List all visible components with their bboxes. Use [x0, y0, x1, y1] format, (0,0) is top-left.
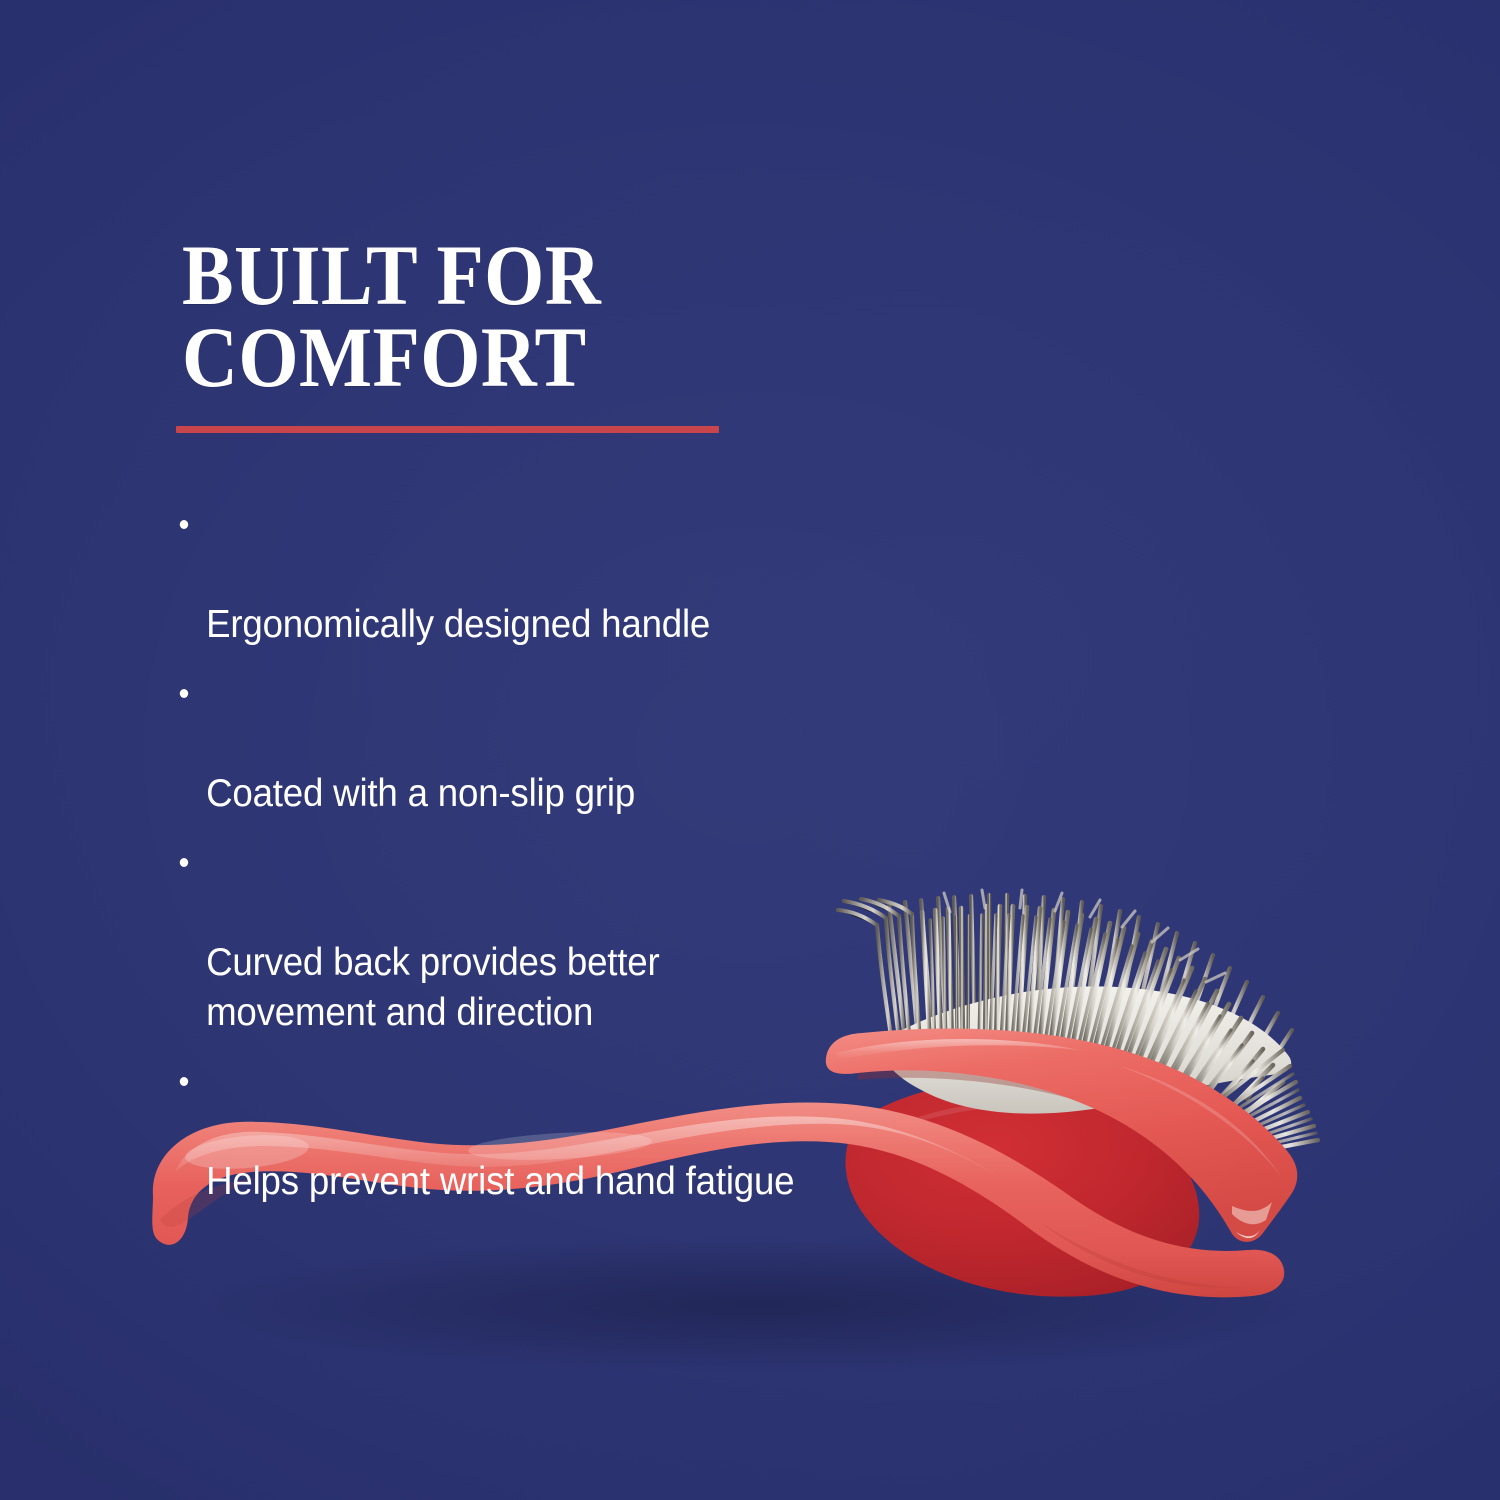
list-item-label: Ergonomically designed handle — [206, 603, 710, 646]
bullet-dot-icon — [180, 858, 188, 867]
list-item: Helps prevent wrist and hand fatigue — [176, 1057, 1041, 1207]
bullet-dot-icon — [180, 689, 188, 698]
bullet-dot-icon — [180, 1077, 188, 1086]
bullet-dot-icon — [180, 520, 188, 529]
marketing-infographic: BUILT FOR COMFORT Ergonomically designed… — [0, 0, 1500, 1500]
list-item-label: Helps prevent wrist and hand fatigue — [206, 1160, 794, 1203]
list-item: Coated with a non-slip grip — [176, 669, 1041, 819]
title-divider-rule — [176, 426, 719, 433]
feature-list: Ergonomically designed handle Coated wit… — [176, 500, 1096, 1226]
page-title: BUILT FOR COMFORT — [182, 234, 992, 398]
list-item: Ergonomically designed handle — [176, 500, 1041, 650]
list-item: Curved back provides better movement and… — [176, 838, 1041, 1038]
list-item-label: Curved back provides better movement and… — [206, 941, 659, 1034]
list-item-label: Coated with a non-slip grip — [206, 772, 635, 815]
